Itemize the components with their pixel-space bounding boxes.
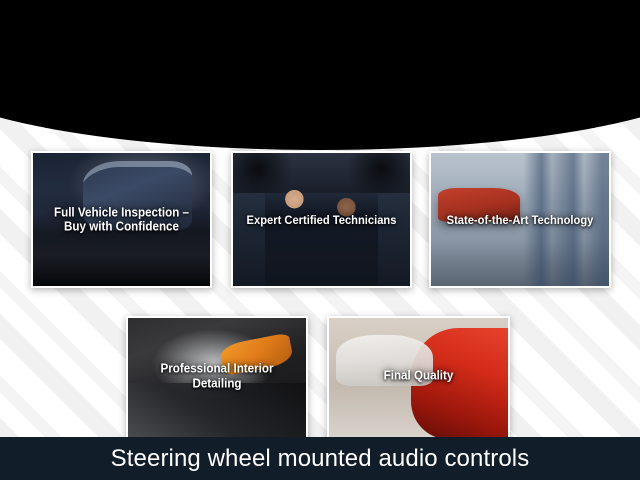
card-caption-professional-interior-detailing: Professional Interior Detailing	[138, 361, 296, 391]
card-caption-line-2: Buy with Confidence	[64, 220, 179, 234]
card-final-quality[interactable]: Final Quality	[327, 316, 510, 441]
card-caption-line-1: Professional Interior	[160, 361, 273, 375]
card-caption-line-1: Full Vehicle Inspection –	[54, 205, 189, 219]
card-caption-line-1: State-of-the-Art Technology	[447, 212, 594, 226]
card-caption-full-vehicle-inspection: Full Vehicle Inspection – Buy with Confi…	[43, 205, 200, 235]
footer-caption-bar: Steering wheel mounted audio controls	[0, 437, 640, 480]
card-professional-interior-detailing[interactable]: Professional Interior Detailing	[126, 316, 308, 441]
card-expert-certified-technicians[interactable]: Expert Certified Technicians	[231, 151, 412, 288]
slide-canvas: See what goes into every Pre-Owned Recon…	[0, 0, 640, 480]
card-caption-line-2: Detailing	[192, 376, 241, 390]
header-banner: See what goes into every Pre-Owned Recon…	[0, 0, 640, 150]
card-caption-state-of-the-art-technology: State-of-the-Art Technology	[441, 212, 599, 226]
card-state-of-the-art-technology[interactable]: State-of-the-Art Technology	[429, 151, 611, 288]
card-caption-expert-certified-technicians: Expert Certified Technicians	[243, 212, 400, 226]
card-caption-line-1: Expert Certified Technicians	[247, 212, 397, 226]
card-caption-line-1: Final Quality	[384, 369, 454, 383]
card-caption-final-quality: Final Quality	[339, 369, 498, 384]
header-banner-content: See what goes into every Pre-Owned Recon…	[0, 0, 640, 150]
footer-caption-text: Steering wheel mounted audio controls	[111, 447, 530, 471]
card-full-vehicle-inspection[interactable]: Full Vehicle Inspection – Buy with Confi…	[31, 151, 212, 288]
